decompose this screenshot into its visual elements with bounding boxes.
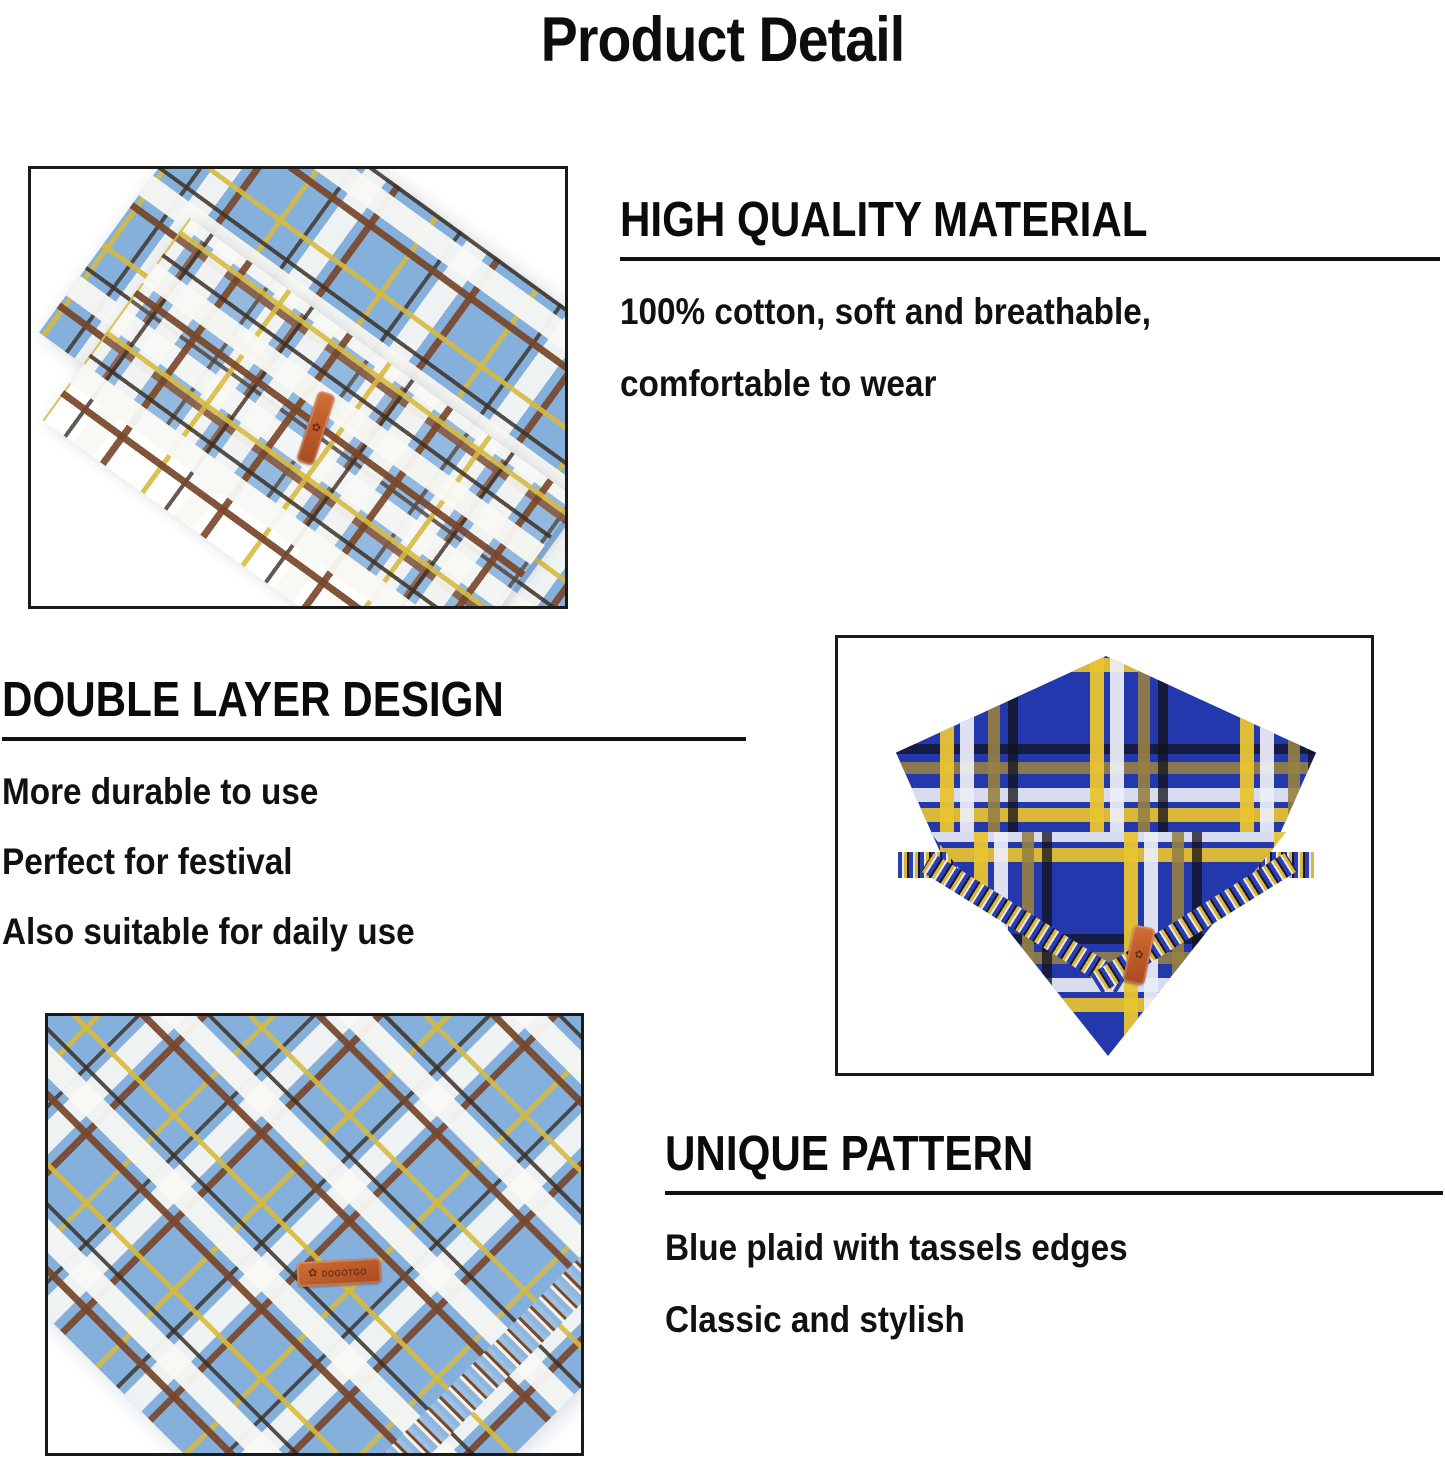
heading-underline	[665, 1191, 1443, 1195]
product-photo-blue-bandana: ✿	[835, 635, 1374, 1076]
feature-high-quality-material: HIGH QUALITY MATERIAL 100% cotton, soft …	[620, 192, 1440, 405]
photo-stage: ✿	[31, 169, 565, 606]
feature-body: More durable to use Perfect for festival…	[2, 771, 746, 953]
bandana-lower-triangle	[930, 832, 1286, 1056]
feature-line-text: Also suitable	[2, 911, 219, 952]
feature-line-emphasis: for daily use	[219, 911, 415, 952]
feature-body: 100% cotton, soft and breathable, comfor…	[620, 291, 1440, 405]
feature-heading: HIGH QUALITY MATERIAL	[620, 192, 1325, 248]
feature-heading: UNIQUE PATTERN	[665, 1126, 1334, 1182]
feature-line: Classic and stylish	[665, 1299, 1365, 1341]
feature-line: Perfect for festival	[2, 841, 672, 883]
feature-unique-pattern: UNIQUE PATTERN Blue plaid with tassels e…	[665, 1126, 1443, 1341]
heading-underline	[620, 257, 1440, 261]
feature-line: Also suitable for daily use	[2, 911, 672, 953]
page-title: Product Detail	[87, 2, 1359, 78]
paw-print-icon: ✿	[1133, 949, 1144, 962]
feature-line: More durable to use	[2, 771, 672, 813]
product-photo-plaid-corner: ✿ DOGOTGO	[45, 1013, 584, 1456]
plaid-fabric-sheet	[45, 1013, 584, 1456]
photo-stage: ✿ DOGOTGO	[48, 1016, 581, 1453]
heading-underline	[2, 737, 746, 741]
leather-brand-tag: ✿ DOGOTGO	[296, 1258, 381, 1287]
photo-stage: ✿	[838, 638, 1371, 1073]
feature-double-layer-design: DOUBLE LAYER DESIGN More durable to use …	[2, 672, 746, 953]
feature-line: 100% cotton, soft and breathable,	[620, 291, 1358, 333]
product-photo-folded-scarf: ✿	[28, 166, 568, 609]
bandana-triangle: ✿	[874, 656, 1340, 1056]
feature-heading: DOUBLE LAYER DESIGN	[2, 672, 642, 728]
feature-line: Blue plaid with tassels edges	[665, 1227, 1365, 1269]
brand-name-text: DOGOTGO	[322, 1266, 368, 1278]
feature-line: comfortable to wear	[620, 363, 1358, 405]
paw-print-icon: ✿	[310, 421, 322, 434]
feature-body: Blue plaid with tassels edges Classic an…	[665, 1227, 1443, 1341]
paw-print-icon: ✿	[308, 1268, 318, 1279]
